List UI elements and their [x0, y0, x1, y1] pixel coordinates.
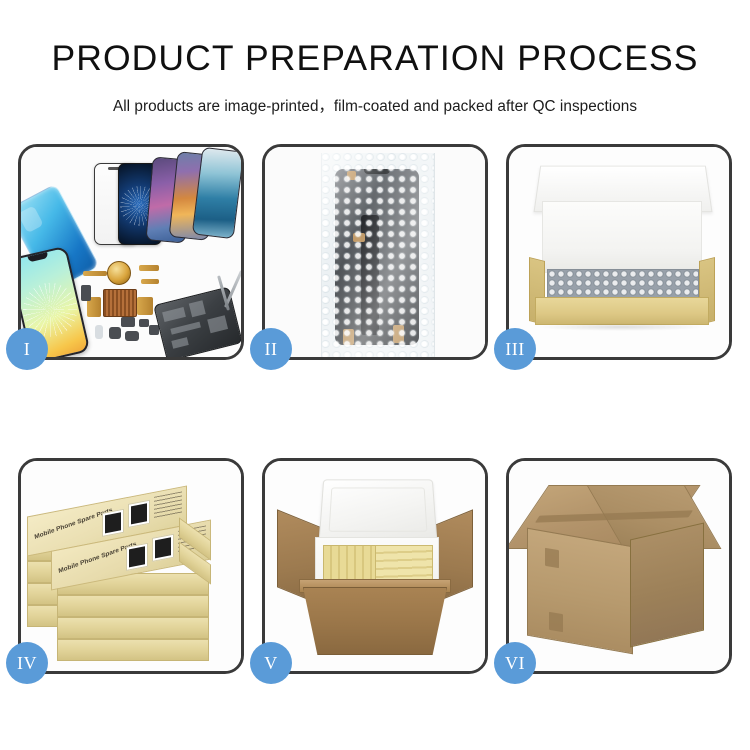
tape-tab-top	[347, 171, 356, 180]
stacked-box-r4	[57, 639, 209, 661]
carton-tape-tab-bottom	[549, 612, 563, 632]
stacked-retail-boxes-photo: Mobile Phone Spare Parts Mobile Phone Sp…	[21, 461, 241, 671]
flex-cable-3	[141, 279, 159, 284]
connector-part-1	[81, 285, 91, 301]
step-5-image	[265, 461, 485, 671]
step-badge-1: I	[6, 328, 48, 370]
stacked-box-r2	[57, 595, 209, 617]
kraft-box-front-wall	[535, 297, 709, 325]
process-step-card-1[interactable]: I	[18, 144, 244, 360]
box-label-screen-icon-2a	[126, 543, 148, 571]
box-stack: Mobile Phone Spare Parts Mobile Phone Sp…	[27, 479, 239, 659]
speaker-part	[125, 331, 139, 341]
stacked-box-r3	[57, 617, 209, 639]
tape-tab-middle	[353, 233, 365, 242]
process-step-card-6[interactable]: VI	[506, 458, 732, 674]
box-drop-shadow	[537, 323, 705, 331]
step-badge-6: VI	[494, 642, 536, 684]
flex-cable-5	[137, 297, 153, 315]
process-step-grid: I II	[18, 144, 732, 674]
step-badge-2: II	[250, 328, 292, 370]
carton-body	[303, 587, 447, 655]
vibration-motor-part	[107, 261, 131, 285]
page-subtitle: All products are image-printed，film-coat…	[0, 77, 750, 116]
step-4-image: Mobile Phone Spare Parts Mobile Phone Sp…	[21, 461, 241, 671]
carton-tape-tab-top	[545, 548, 559, 568]
process-step-card-5[interactable]: V	[262, 458, 488, 674]
bubble-wrapped-screen-photo	[265, 147, 485, 357]
carton-side-panel	[630, 522, 704, 647]
box-label-screen-icon-1a	[102, 509, 124, 537]
process-step-card-2[interactable]: II	[262, 144, 488, 360]
flex-cable-2	[139, 265, 159, 271]
step-3-image	[509, 147, 729, 357]
step-badge-4: IV	[6, 642, 48, 684]
page-title: PRODUCT PREPARATION PROCESS	[0, 0, 750, 77]
foam-carton-loading-photo	[265, 461, 485, 671]
step-badge-3: III	[494, 328, 536, 370]
box-label-screen-icon-1b	[128, 500, 150, 528]
tape-tab-bottom-right	[393, 325, 404, 343]
step-badge-5: V	[250, 642, 292, 684]
process-step-card-3[interactable]: III	[506, 144, 732, 360]
carton-front-panel	[527, 528, 633, 655]
phone-parts-assortment-photo	[21, 147, 241, 357]
box-label-speclines-1	[154, 491, 182, 518]
step-6-image	[509, 461, 729, 671]
flex-cable-1	[83, 271, 107, 276]
foam-cooler-lid	[319, 479, 438, 541]
step-2-image	[265, 147, 485, 357]
sealed-carton-photo	[509, 461, 729, 671]
sim-tray-part	[95, 325, 103, 339]
connector-part-3	[139, 319, 149, 327]
tape-tab-bottom-left	[343, 329, 354, 345]
ic-chip-array	[103, 289, 137, 317]
connector-part-2	[121, 317, 135, 327]
process-step-card-4[interactable]: Mobile Phone Spare Parts Mobile Phone Sp…	[18, 458, 244, 674]
box-label-screen-icon-2b	[152, 534, 174, 562]
inner-box-packing-photo	[509, 147, 729, 357]
camera-module-part	[109, 327, 121, 339]
step-1-image	[21, 147, 241, 357]
page-header: PRODUCT PREPARATION PROCESS All products…	[0, 0, 750, 116]
white-foam-sheet	[542, 201, 702, 273]
